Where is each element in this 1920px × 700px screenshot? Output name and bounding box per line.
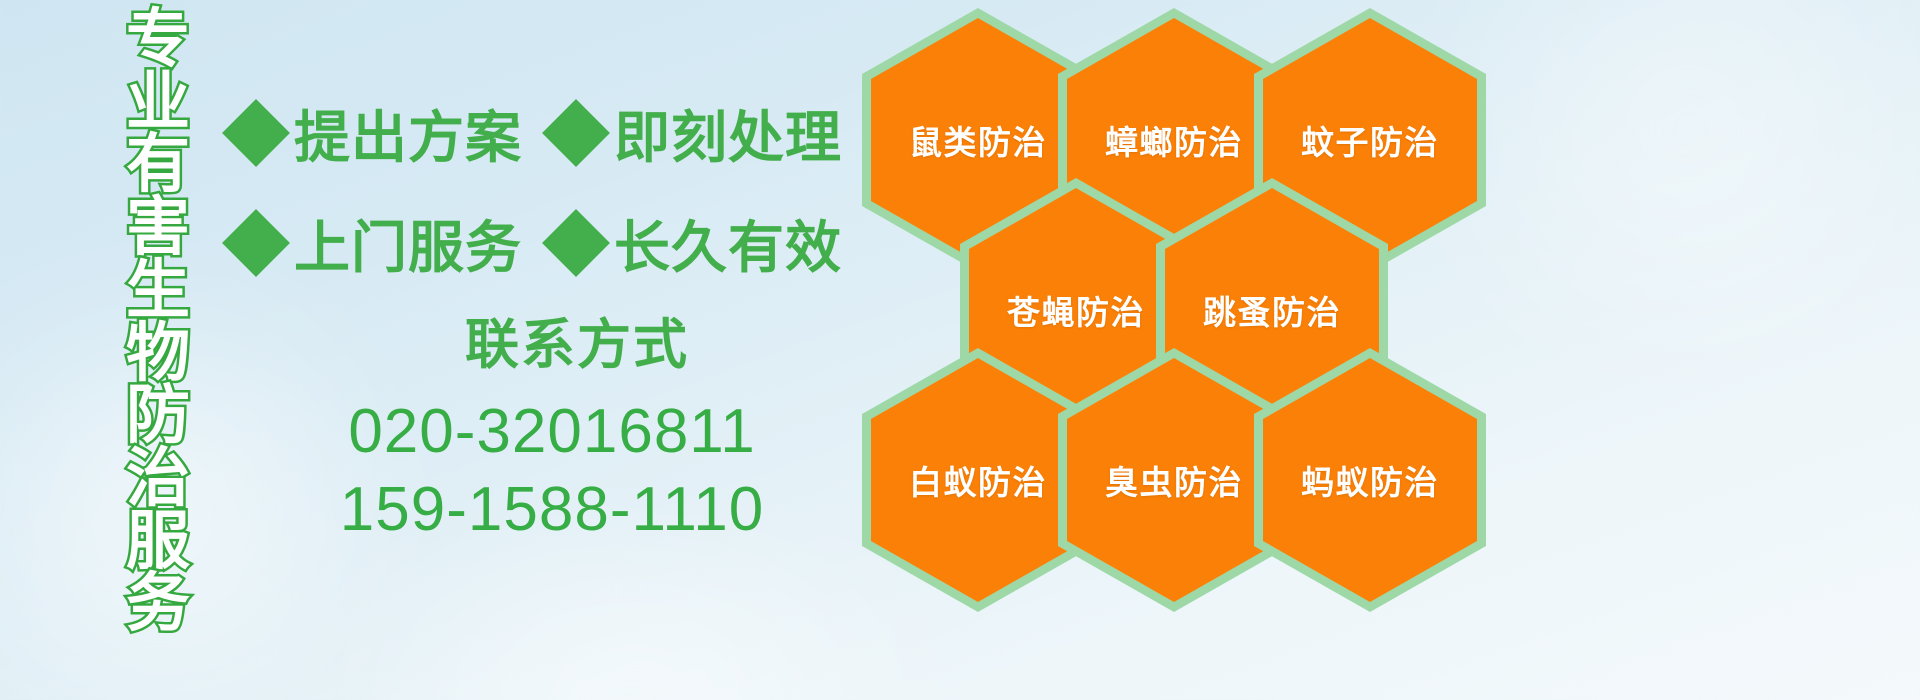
phone-number-landline[interactable]: 020-32016811: [232, 393, 872, 471]
feature-item-onsite-service: 上门服务: [232, 203, 522, 284]
hex-label: 蚂蚁防治: [1301, 456, 1439, 504]
vertical-headline-char: 务: [126, 572, 190, 635]
hex-inner: 蚂蚁防治: [1263, 358, 1477, 602]
contact-title: 联系方式: [232, 300, 872, 379]
diamond-icon: [542, 99, 610, 167]
hex-label: 苍蝇防治: [1007, 286, 1145, 334]
diamond-icon: [542, 209, 610, 277]
hex-label: 臭虫防治: [1105, 456, 1243, 504]
service-hexagon-grid: 鼠类防治 蟑螂防治 蚊子防治 苍蝇防治 跳蚤防治 白蚁防治 臭虫防治 蚂蚁防治: [862, 0, 1462, 700]
feature-label: 上门服务: [294, 203, 522, 284]
feature-item-propose-plan: 提出方案: [232, 93, 522, 174]
diamond-icon: [222, 99, 290, 167]
feature-row: 上门服务 长久有效: [232, 188, 872, 298]
vertical-headline-char: 治: [126, 447, 190, 510]
vertical-headline-char: 有: [126, 133, 190, 196]
vertical-headline-char: 害: [126, 196, 190, 259]
hex-inner: 白蚁防治: [871, 358, 1085, 602]
feature-row: 提出方案 即刻处理: [232, 78, 872, 188]
diamond-icon: [222, 209, 290, 277]
feature-label: 提出方案: [294, 93, 522, 174]
hex-label: 白蚁防治: [909, 456, 1047, 504]
contact-block: 联系方式 020-32016811 159-1588-1110: [232, 300, 872, 549]
feature-list: 提出方案 即刻处理 上门服务 长久有效: [232, 78, 872, 298]
vertical-headline-char: 业: [126, 71, 190, 134]
vertical-headline: 专 业 有 害 生 物 防 治 服 务: [106, 8, 210, 700]
feature-label: 即刻处理: [614, 93, 842, 174]
hex-label: 跳蚤防治: [1203, 286, 1341, 334]
hex-label: 鼠类防治: [909, 116, 1047, 164]
feature-item-immediate-treatment: 即刻处理: [552, 93, 842, 174]
phone-number-mobile[interactable]: 159-1588-1110: [232, 471, 872, 549]
hex-label: 蟑螂防治: [1105, 116, 1243, 164]
hex-label: 蚊子防治: [1301, 116, 1439, 164]
vertical-headline-char: 物: [126, 322, 190, 385]
vertical-headline-char: 防: [126, 384, 190, 447]
feature-item-long-lasting: 长久有效: [552, 203, 842, 284]
vertical-headline-char: 服: [126, 510, 190, 573]
feature-label: 长久有效: [614, 203, 842, 284]
vertical-headline-char: 专: [126, 8, 190, 71]
vertical-headline-char: 生: [126, 259, 190, 322]
hex-inner: 臭虫防治: [1067, 358, 1281, 602]
